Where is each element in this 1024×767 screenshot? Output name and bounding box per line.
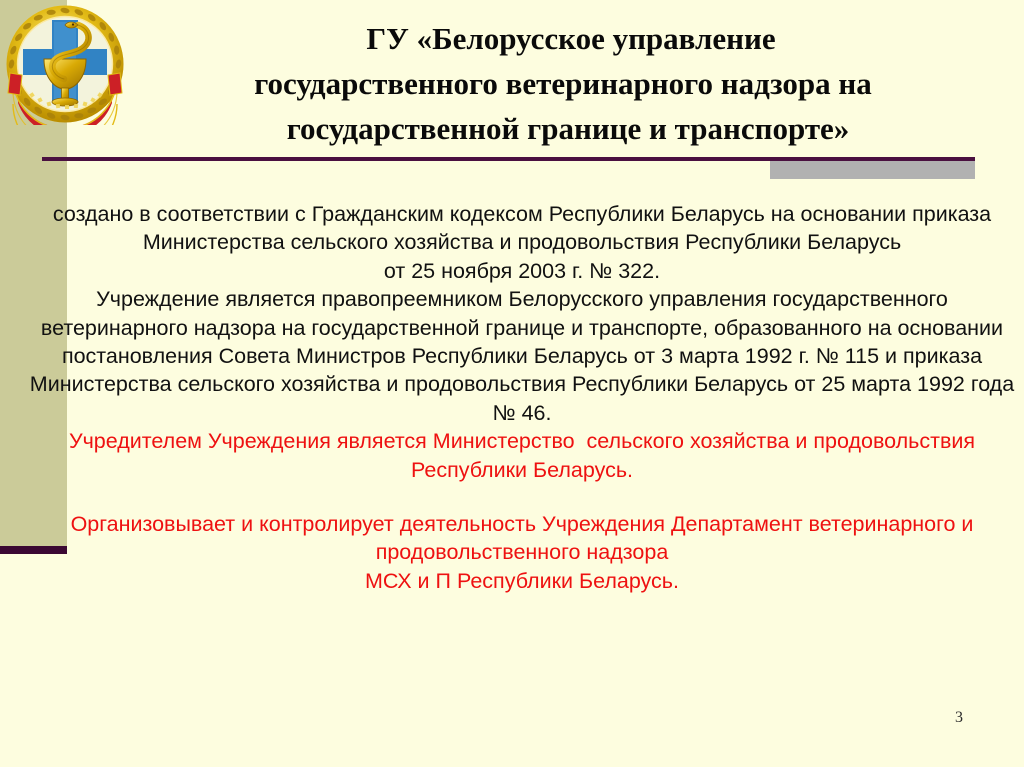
page-number: 3 [955, 709, 963, 727]
slide-title: ГУ «Белорусское управление государственн… [126, 16, 1016, 151]
title-underline-rule [42, 157, 975, 161]
veterinary-emblem-icon [4, 3, 126, 125]
slide-canvas: ГУ «Белорусское управление государственн… [0, 0, 1024, 767]
title-line-2: государственного ветеринарного надзора н… [110, 61, 1016, 106]
body-spacer [20, 484, 1024, 510]
body-paragraph-2: от 25 ноября 2003 г. № 322. [20, 257, 1024, 285]
body-paragraph-1: создано в соответствии с Гражданским код… [20, 200, 1024, 257]
body-paragraph-3: Учреждение является правопреемником Бело… [20, 285, 1024, 427]
title-line-3: государственной границе и транспорте» [120, 106, 1016, 151]
slide-body: создано в соответствии с Гражданским код… [20, 200, 1024, 595]
title-line-1: ГУ «Белорусское управление [126, 16, 1016, 61]
body-paragraph-5-highlight: Организовывает и контролирует деятельнос… [20, 510, 1024, 595]
body-paragraph-4-highlight: Учредителем Учреждения является Министер… [20, 427, 1024, 484]
title-rule-shadow [770, 158, 975, 179]
